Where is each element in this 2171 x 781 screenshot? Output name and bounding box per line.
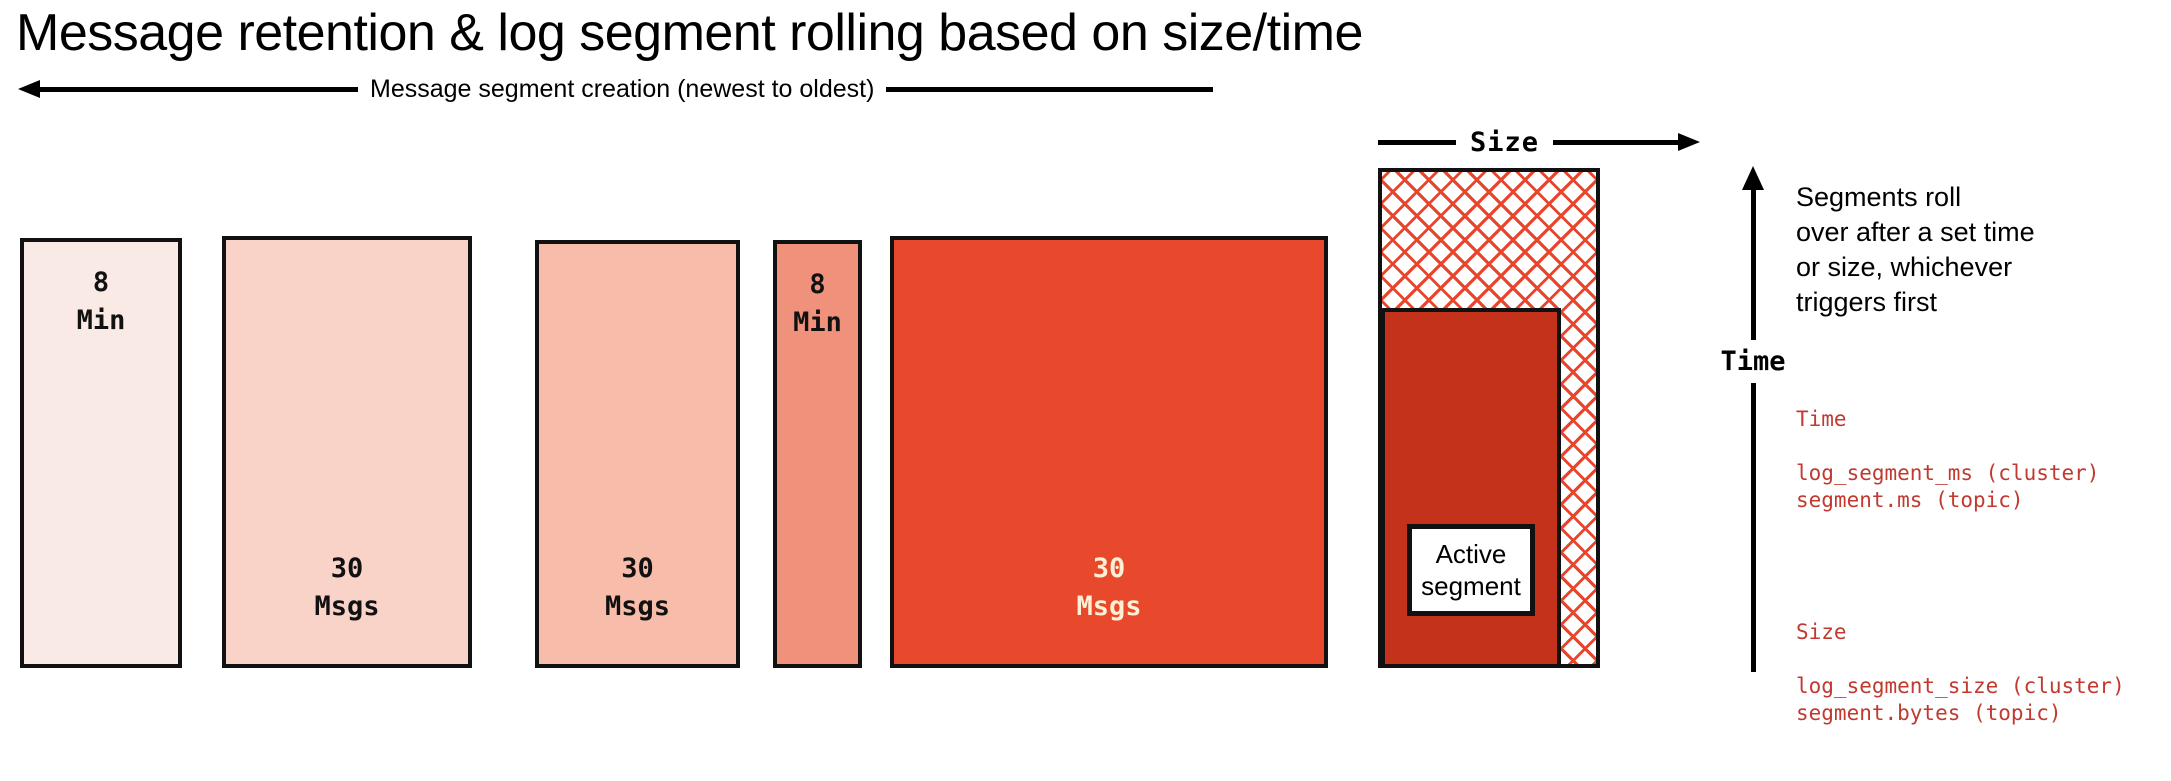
config-time-lines: log_segment_ms (cluster) segment.ms (top…	[1796, 460, 2166, 514]
time-axis-line-bottom	[1751, 383, 1756, 672]
config-block: Time log_segment_ms (cluster) segment.ms…	[1796, 352, 2166, 781]
segment-bar-3: 30 Msgs	[535, 240, 740, 668]
segment-bar-2-label: 30 Msgs	[314, 550, 379, 626]
segment-bar-3-label: 30 Msgs	[605, 550, 670, 626]
arrow-line-right	[886, 87, 1213, 92]
size-arrow-line-right	[1553, 140, 1680, 145]
segment-bar-4-label: 8 Min	[793, 266, 842, 342]
config-group-size: Size log_segment_size (cluster) segment.…	[1796, 592, 2166, 754]
creation-direction-arrow: Message segment creation (newest to olde…	[18, 72, 1213, 106]
size-direction-arrow: Size	[1378, 126, 1700, 158]
segment-bar-1-label: 8 Min	[77, 264, 126, 340]
size-arrow-line-left	[1378, 140, 1456, 145]
active-segment-label: Active segment	[1421, 538, 1521, 602]
segment-bar-5-label: 30 Msgs	[1076, 550, 1141, 626]
segment-bar-1: 8 Min	[20, 238, 182, 668]
segment-bar-2: 30 Msgs	[222, 236, 472, 668]
notes-body-text: Segments roll over after a set time or s…	[1796, 180, 2166, 320]
arrow-up-icon	[1742, 166, 1764, 190]
creation-arrow-label: Message segment creation (newest to olde…	[358, 75, 886, 104]
segment-bar-5: 30 Msgs	[890, 236, 1328, 668]
time-axis-line-top	[1751, 188, 1756, 340]
arrow-right-icon	[1678, 133, 1700, 151]
arrow-left-icon	[18, 80, 40, 98]
size-arrow-label: Size	[1456, 127, 1553, 158]
time-axis-label: Time	[1720, 340, 1785, 383]
active-segment-callout: Active segment	[1407, 524, 1535, 616]
config-size-lines: log_segment_size (cluster) segment.bytes…	[1796, 673, 2166, 727]
config-group-time: Time log_segment_ms (cluster) segment.ms…	[1796, 379, 2166, 541]
config-size-heading: Size	[1796, 619, 2166, 646]
arrow-line-left	[38, 87, 358, 92]
page-title: Message retention & log segment rolling …	[16, 2, 1363, 64]
time-axis-arrow: Time	[1693, 166, 1813, 672]
notes-panel: Segments roll over after a set time or s…	[1796, 180, 2166, 781]
segment-bar-4: 8 Min	[773, 240, 862, 668]
config-time-heading: Time	[1796, 406, 2166, 433]
